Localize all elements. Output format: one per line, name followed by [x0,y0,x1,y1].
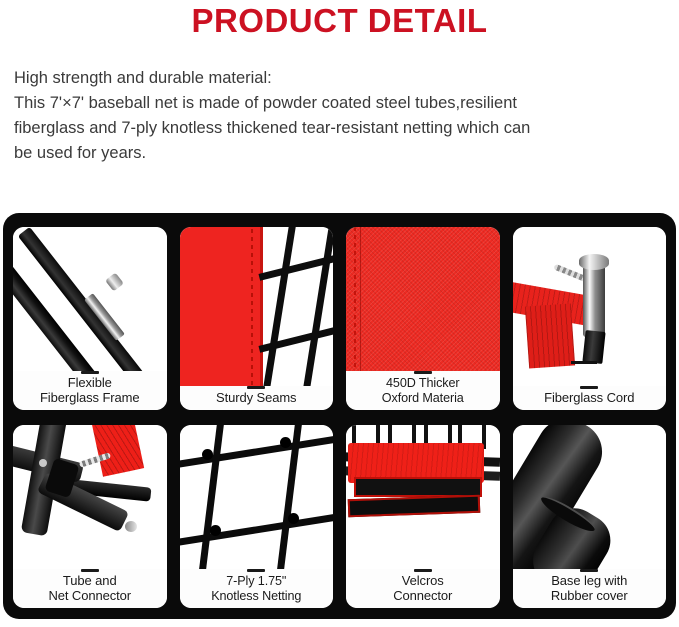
caption-block: Fiberglass Cord [513,386,667,411]
feature-row-1: Flexible Fiberglass Frame Sturdy Seams [13,227,666,410]
feature-row-2: Tube and Net Connector [13,425,666,608]
intro-line-1: High strength and durable material: [14,66,664,91]
caption-block: 7-Ply 1.75" Knotless Netting [180,569,334,608]
feature-caption: Base leg with Rubber cover [515,574,665,603]
feature-cell-fiberglass-cord[interactable]: Fiberglass Cord [513,227,667,410]
caption-block: Flexible Fiberglass Frame [13,371,167,410]
feature-caption: 450D Thicker Oxford Materia [348,376,498,405]
intro-line-4: be used for years. [14,141,664,166]
page-title: PRODUCT DETAIL [0,2,679,40]
red-oxford-fabric-photo [346,227,500,371]
caption-divider-icon [414,569,432,572]
caption-divider-icon [247,569,265,572]
base-leg-rubber-cover-photo [513,425,667,569]
caption-block: Velcros Connector [346,569,500,608]
caption-divider-icon [414,371,432,374]
feature-caption: 7-Ply 1.75" Knotless Netting [182,574,332,603]
intro-line-2: This 7'×7' baseball net is made of powde… [14,91,664,116]
feature-caption: Fiberglass Cord [515,391,665,406]
tube-net-connector-photo [13,425,167,569]
caption-divider-icon [81,371,99,374]
feature-caption: Sturdy Seams [182,391,332,406]
caption-divider-icon [580,386,598,389]
caption-block: Sturdy Seams [180,386,334,411]
fiberglass-frame-photo [13,227,167,371]
caption-divider-icon [81,569,99,572]
red-seam-and-net-photo [180,227,334,386]
caption-block: Tube and Net Connector [13,569,167,608]
feature-cell-oxford-material[interactable]: 450D Thicker Oxford Materia [346,227,500,410]
feature-cell-base-leg-rubber-cover[interactable]: Base leg with Rubber cover [513,425,667,608]
feature-cell-velcros-connector[interactable]: Velcros Connector [346,425,500,608]
intro-line-3: fiberglass and 7-ply knotless thickened … [14,116,664,141]
feature-cell-flexible-fiberglass-frame[interactable]: Flexible Fiberglass Frame [13,227,167,410]
feature-grid-panel: Flexible Fiberglass Frame Sturdy Seams [3,213,676,619]
feature-cell-tube-net-connector[interactable]: Tube and Net Connector [13,425,167,608]
velcro-connector-photo [346,425,500,569]
fiberglass-cord-photo [513,227,667,386]
knotless-netting-photo [180,425,334,569]
caption-divider-icon [247,386,265,389]
feature-caption: Flexible Fiberglass Frame [15,376,165,405]
product-detail-page: PRODUCT DETAIL High strength and durable… [0,0,679,627]
caption-block: 450D Thicker Oxford Materia [346,371,500,410]
feature-cell-knotless-netting[interactable]: 7-Ply 1.75" Knotless Netting [180,425,334,608]
feature-caption: Tube and Net Connector [15,574,165,603]
caption-divider-icon [580,569,598,572]
caption-block: Base leg with Rubber cover [513,569,667,608]
feature-cell-sturdy-seams[interactable]: Sturdy Seams [180,227,334,410]
intro-paragraph: High strength and durable material: This… [14,66,664,166]
feature-caption: Velcros Connector [348,574,498,603]
